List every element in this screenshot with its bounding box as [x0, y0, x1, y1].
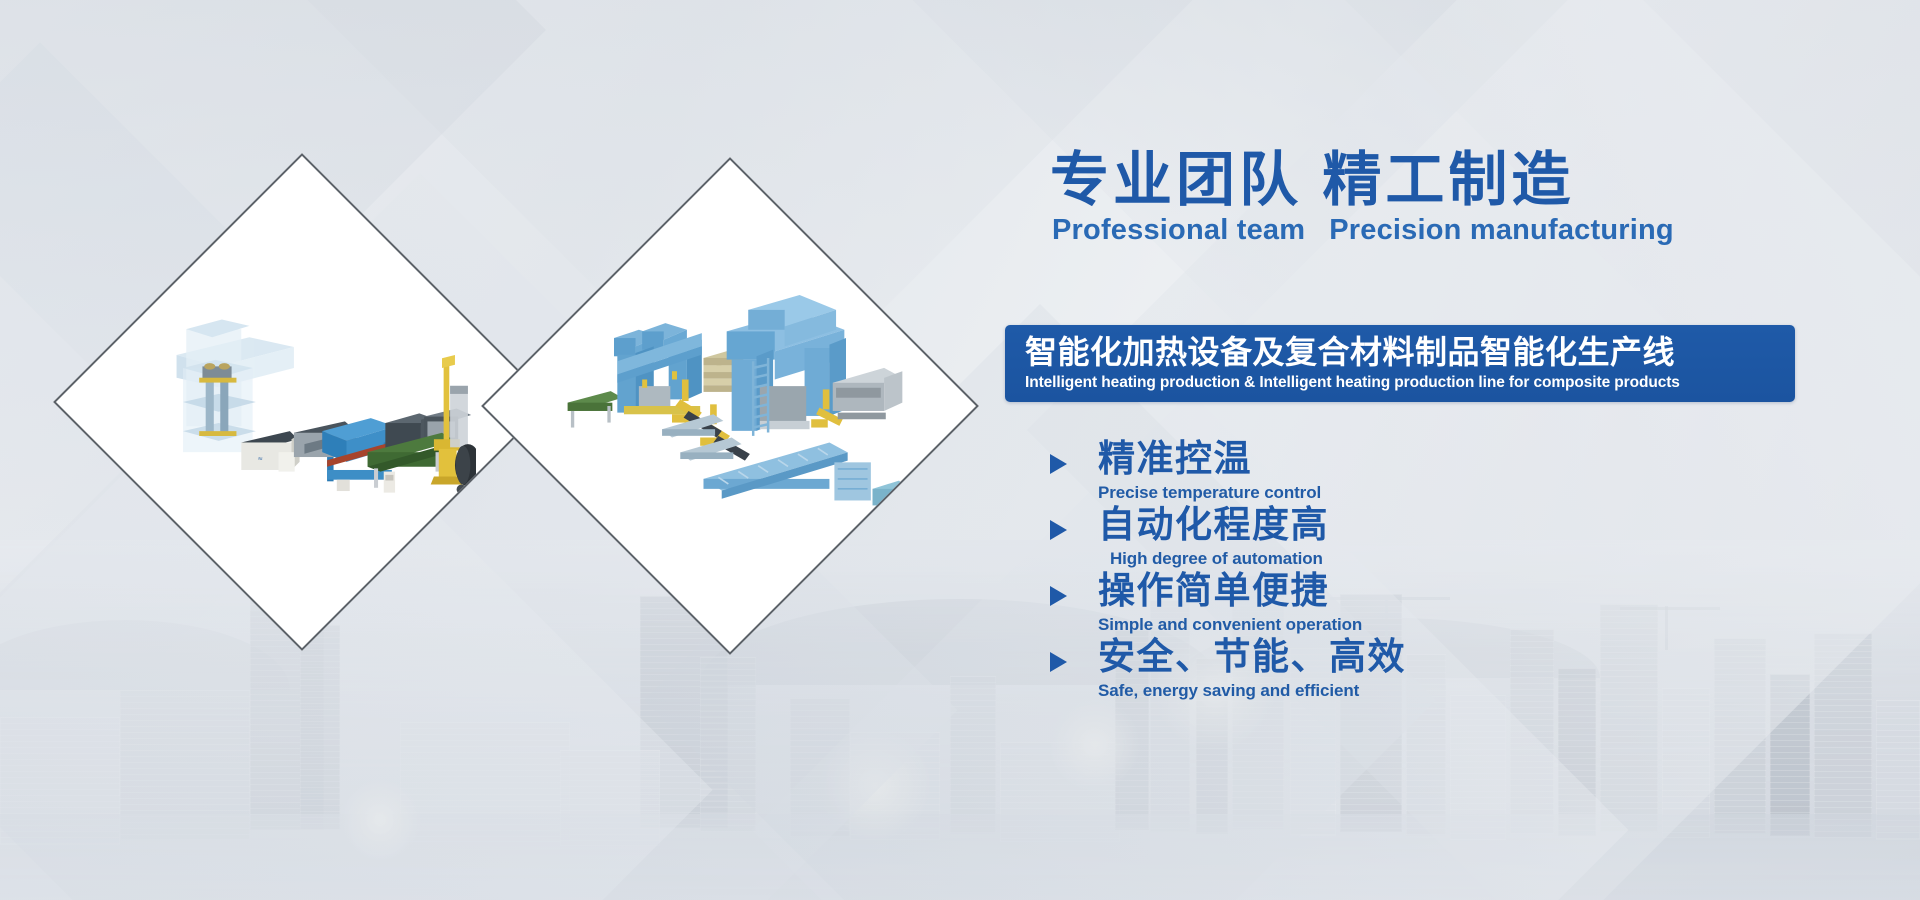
svg-text:≈: ≈ — [257, 454, 262, 462]
product-name-en: Intelligent heating production & Intelli… — [1025, 373, 1779, 392]
feature-title-en: Simple and convenient operation — [1098, 616, 1820, 633]
feature-item: 操作简单便捷 Simple and convenient operation — [1040, 572, 1820, 638]
feature-item: 安全、节能、高效 Safe, energy saving and efficie… — [1040, 638, 1820, 704]
feature-title-cn: 自动化程度高 — [1098, 506, 1820, 543]
promotional-banner: ≈ — [0, 0, 1920, 900]
composite-products-production-line-render — [556, 256, 904, 556]
feature-list: 精准控温 Precise temperature control 自动化程度高 … — [1040, 440, 1820, 704]
feature-item: 自动化程度高 High degree of automation — [1040, 506, 1820, 572]
banner-text-content: 专业团队 精工制造 Professional teamPrecision man… — [1040, 150, 1840, 247]
feature-title-cn: 操作简单便捷 — [1098, 572, 1820, 609]
feature-item: 精准控温 Precise temperature control — [1040, 440, 1820, 506]
product-name-bar: 智能化加热设备及复合材料制品智能化生产线 Intelligent heating… — [1005, 325, 1795, 402]
feature-title-en: Safe, energy saving and efficient — [1098, 682, 1820, 699]
feature-title-cn: 精准控温 — [1098, 440, 1820, 477]
page-subtitle: Professional teamPrecision manufacturing — [1052, 214, 1840, 247]
feature-title-en: High degree of automation — [1110, 550, 1820, 567]
feature-title-cn: 安全、节能、高效 — [1098, 638, 1820, 675]
page-subtitle-right: Precision manufacturing — [1329, 214, 1674, 246]
triangle-right-icon — [1050, 652, 1067, 672]
page-title: 专业团队 精工制造 — [1050, 150, 1840, 212]
product-name-cn: 智能化加热设备及复合材料制品智能化生产线 — [1025, 334, 1779, 371]
feature-title-en: Precise temperature control — [1098, 484, 1820, 501]
heating-press-production-line-render: ≈ — [128, 252, 476, 552]
triangle-right-icon — [1050, 520, 1067, 540]
triangle-right-icon — [1050, 454, 1067, 474]
page-subtitle-left: Professional team — [1052, 214, 1305, 246]
triangle-right-icon — [1050, 586, 1067, 606]
